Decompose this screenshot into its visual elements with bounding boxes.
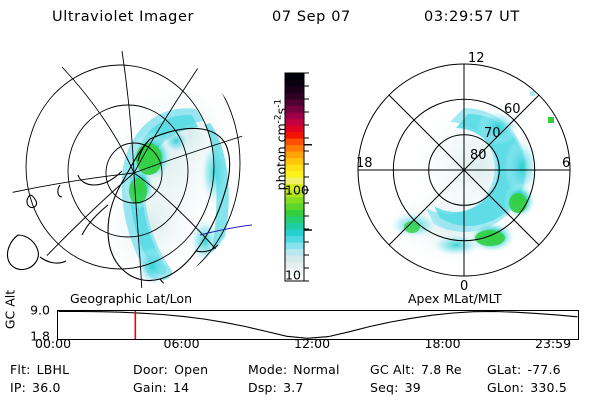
meta-value: 3.7	[283, 380, 303, 395]
meta-value: 14	[173, 380, 189, 395]
geographic-svg	[0, 45, 252, 295]
status-metadata-panel: Flt:LBHLDoor:OpenMode:NormalGC Alt:7.8 R…	[0, 360, 600, 400]
meta-gain: Gain:14	[133, 380, 189, 395]
colorbar-tick-label-0: 100	[285, 182, 309, 197]
meta-value: -77.6	[527, 362, 560, 377]
meta-glat: GLat:-77.6	[487, 362, 561, 377]
meta-gc-alt: GC Alt:7.8 Re	[370, 362, 462, 377]
meta-label: IP:	[10, 380, 26, 395]
orbit-altitude-trace	[59, 312, 578, 339]
colorbar-tick-label-1: 10	[285, 268, 301, 283]
observation-time: 03:29:57 UT	[424, 9, 520, 25]
colorbar-unit-exp2: -1	[273, 99, 283, 108]
colorbar-svg	[252, 45, 352, 295]
colorbar-unit-exp1: -2	[273, 114, 283, 123]
meta-value: 36.0	[32, 380, 61, 395]
geographic-panel-title: Geographic Lat/Lon	[70, 291, 192, 306]
meta-door: Door:Open	[133, 362, 208, 377]
meta-label: Door:	[133, 362, 168, 377]
colorbar-panel: photon cm-2s-1 10010	[252, 45, 352, 295]
magnetic-aurora-plot: 12 18 6 0 60 70 80	[352, 45, 592, 295]
orbit-chart-svg	[57, 310, 579, 340]
mlat-label-80: 80	[470, 148, 487, 163]
mlat-label-60: 60	[504, 102, 521, 117]
meta-label: Flt:	[10, 362, 31, 377]
mlat-label-70: 70	[484, 126, 501, 141]
instrument-title: Ultraviolet Imager	[52, 9, 194, 25]
meta-glon: GLon:330.5	[487, 380, 567, 395]
mlt-label-12: 12	[468, 51, 485, 66]
meta-label: Gain:	[133, 380, 167, 395]
meta-label: Mode:	[248, 362, 287, 377]
meta-dsp: Dsp:3.7	[248, 380, 304, 395]
meta-label: GLat:	[487, 362, 521, 377]
colorbar-ticks	[304, 73, 312, 281]
meta-value: LBHL	[37, 362, 70, 377]
meta-label: GLon:	[487, 380, 524, 395]
meta-seq: Seq:39	[370, 380, 421, 395]
colorbar-unit-main: photon cm	[274, 123, 289, 190]
meta-label: Dsp:	[248, 380, 277, 395]
meta-mode: Mode:Normal	[248, 362, 340, 377]
meta-ip: IP:36.0	[10, 380, 61, 395]
magnetic-svg: 12 18 6 0 60 70 80	[352, 45, 592, 295]
orbit-y-tick-0: 9.0	[14, 303, 50, 318]
meta-label: Seq:	[370, 380, 399, 395]
polar-grid	[358, 64, 570, 276]
magnetic-panel-title: Apex MLat/MLT	[408, 291, 502, 306]
orbit-altitude-panel: GC Alt Geographic Lat/Lon Apex MLat/MLT …	[0, 292, 600, 354]
geographic-aurora-image	[0, 45, 252, 295]
meta-label: GC Alt:	[370, 362, 415, 377]
header-bar: Ultraviolet Imager 07 Sep 07 03:29:57 UT	[0, 6, 600, 32]
outlying-islands	[7, 185, 66, 270]
colorbar-unit-mid: s	[274, 108, 289, 115]
observation-date: 07 Sep 07	[272, 9, 351, 25]
meta-value: Normal	[293, 362, 339, 377]
mlt-label-18: 18	[356, 156, 373, 171]
mlt-label-6: 6	[562, 156, 570, 171]
meta-flt: Flt:LBHL	[10, 362, 69, 377]
meta-value: Open	[174, 362, 208, 377]
magnetic-aurora-emission	[382, 91, 554, 269]
meta-value: 7.8 Re	[421, 362, 462, 377]
meta-value: 330.5	[530, 380, 567, 395]
meta-value: 39	[405, 380, 421, 395]
